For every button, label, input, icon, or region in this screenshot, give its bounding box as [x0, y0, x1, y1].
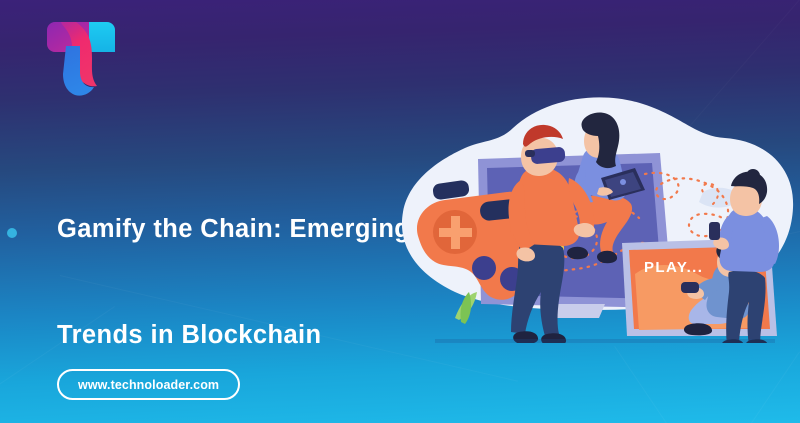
plant-decor: [455, 292, 477, 324]
deco-dot-left: [7, 228, 17, 238]
website-url-label: www.technoloader.com: [78, 378, 219, 392]
ground-shadow: [435, 339, 775, 343]
controller-stick-left: [472, 256, 496, 280]
laptop-logo-dot: [620, 179, 626, 185]
deco-diagonal-bottom-right: [732, 351, 800, 423]
website-url-pill[interactable]: www.technoloader.com: [57, 369, 240, 400]
tablet-play-label: PLAY...: [644, 259, 703, 276]
deco-diagonal-bottom-left: [614, 346, 682, 423]
vr-headset: [530, 147, 565, 165]
girl-gamepad: [681, 282, 699, 293]
hero-illustration: PLAY...: [395, 96, 800, 343]
vr-headset-strap: [525, 150, 535, 157]
smartphone: [709, 222, 720, 240]
headline-line-3: Game Development: [57, 415, 457, 423]
technoloader-logo[interactable]: [45, 18, 117, 96]
phone-woman-hair-bun: [746, 169, 760, 183]
promo-banner: Gamify the Chain: Emerging Trends in Blo…: [0, 0, 800, 423]
